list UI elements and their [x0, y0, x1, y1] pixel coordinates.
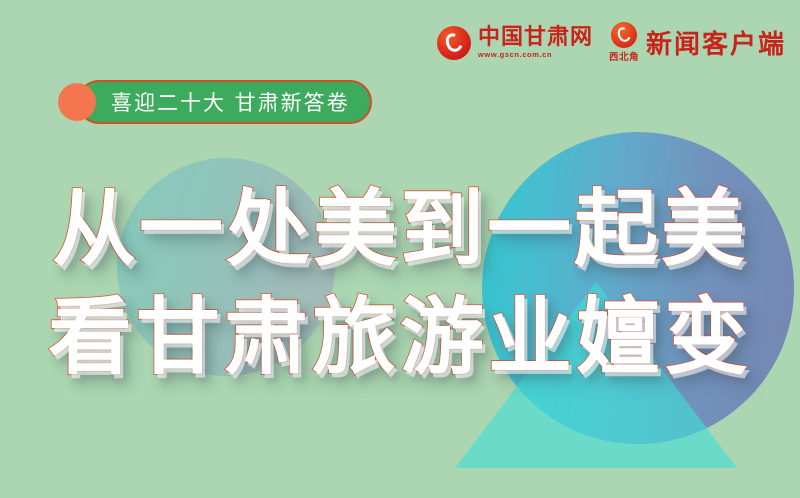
background-decoration-layer [0, 0, 800, 498]
decorative-triangle-icon [455, 282, 737, 468]
publisher-logo-bar: 中国甘肃网 www.gscn.com.cn 西北角 新闻客户端 [437, 22, 786, 63]
logo-gansu-net-url: www.gscn.com.cn [478, 50, 552, 59]
campaign-badge-dot-icon [58, 83, 96, 121]
logo-gansu-net-text-stack: 中国甘肃网 www.gscn.com.cn [478, 26, 593, 59]
decorative-circle-small-icon [117, 158, 335, 376]
gansu-net-swan-logo-icon [437, 26, 471, 60]
logo-xibeijiao-badge: 西北角 [609, 22, 639, 63]
campaign-badge[interactable]: 喜迎二十大 甘肃新答卷 [58, 80, 372, 124]
campaign-badge-label: 喜迎二十大 甘肃新答卷 [111, 87, 350, 117]
logo-xibeijiao-seal-label: 西北角 [609, 49, 639, 63]
logo-gansu-net[interactable]: 中国甘肃网 www.gscn.com.cn [437, 26, 593, 60]
logo-news-client-name: 新闻客户端 [646, 24, 786, 61]
poster-canvas: 中国甘肃网 www.gscn.com.cn 西北角 新闻客户端 喜迎二十大 甘肃… [0, 0, 800, 498]
xibeijiao-swan-logo-icon [611, 22, 637, 48]
logo-gansu-net-name: 中国甘肃网 [478, 26, 593, 49]
logo-news-client[interactable]: 西北角 新闻客户端 [609, 22, 786, 63]
campaign-badge-pill: 喜迎二十大 甘肃新答卷 [77, 80, 372, 124]
